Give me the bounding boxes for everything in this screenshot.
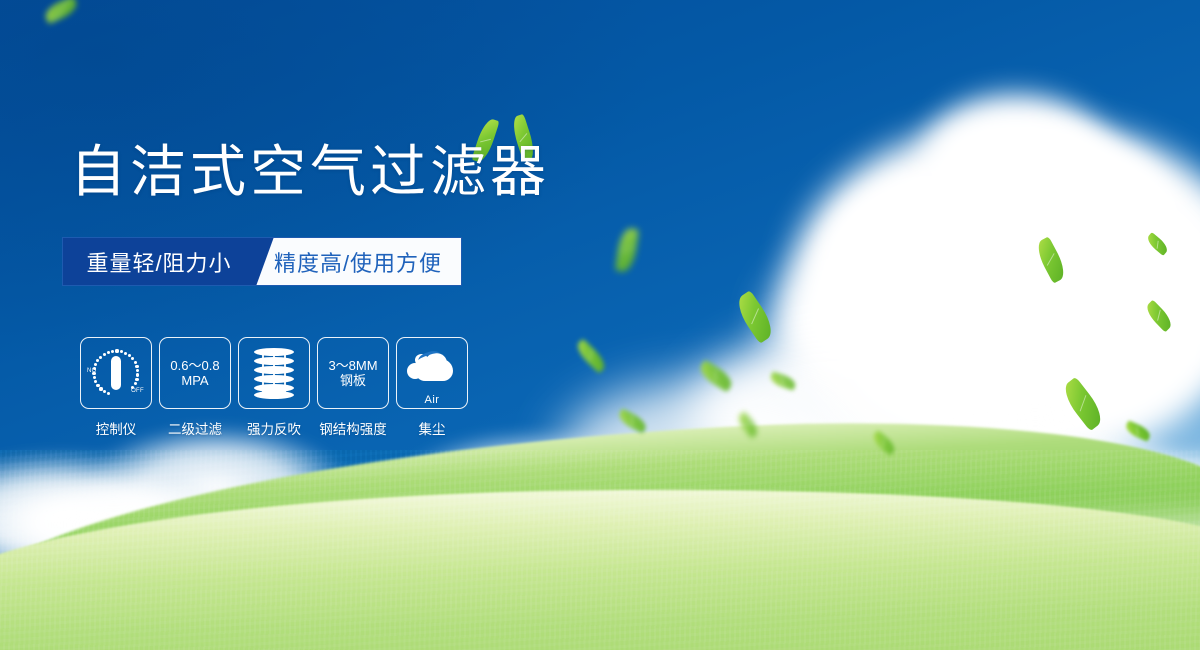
banner-content: 自洁式空气过滤器 重量轻/阻力小 精度高/使用方便 NO OFF 控制仪: [0, 0, 1200, 650]
filter-stack-icon: [250, 347, 298, 399]
gauge-tick-dot: [99, 356, 102, 359]
steel-thickness-text: 3〜8MM: [328, 358, 377, 373]
feature-box-blowback: [238, 337, 310, 409]
air-label: Air: [405, 394, 459, 407]
gauge-tick-dot: [96, 384, 99, 387]
stack-ring-2: [254, 357, 294, 365]
subtitle-right-label: 精度高/使用方便: [274, 246, 442, 278]
gauge-tick-dot: [115, 349, 118, 352]
gauge-tick-dot: [96, 359, 99, 362]
gauge-tick-dot: [99, 387, 102, 390]
feature-label-control-gauge: 控制仪: [96, 418, 137, 438]
gauge-tick-dot: [136, 373, 139, 376]
feature-item-dust[interactable]: Air 集尘: [396, 337, 468, 438]
feature-box-dust: Air: [396, 337, 468, 409]
gauge-tick-dot: [120, 350, 123, 353]
feature-box-steel: 3〜8MM 钢板: [317, 337, 389, 409]
feature-label-pressure: 二级过滤: [168, 418, 222, 438]
gauge-tick-dot: [103, 353, 106, 356]
gauge-tick-dot: [134, 361, 137, 364]
gauge-needle: [111, 356, 121, 390]
gauge-tick-dot: [131, 357, 134, 360]
feature-item-steel[interactable]: 3〜8MM 钢板 钢结构强度: [317, 337, 389, 438]
subtitle-left-segment: 重量轻/阻力小: [63, 238, 255, 285]
feature-box-pressure: 0.6〜0.8 MPA: [159, 337, 231, 409]
gauge-tick-dot: [94, 363, 97, 366]
feature-item-pressure[interactable]: 0.6〜0.8 MPA 二级过滤: [159, 337, 231, 438]
gauge-tick-dot: [111, 350, 114, 353]
subtitle-bar: 重量轻/阻力小 精度高/使用方便: [62, 237, 462, 286]
gauge-tick-dot: [135, 378, 138, 381]
gauge-tick-dot: [107, 351, 110, 354]
gauge-tick-dot: [107, 392, 110, 395]
feature-icon-list: NO OFF 控制仪 0.6〜0.8 MPA 二级过滤: [80, 337, 468, 438]
gauge-dial-icon: NO OFF: [87, 347, 145, 399]
gauge-tick-dot: [94, 380, 97, 383]
pressure-range-text: 0.6〜0.8: [170, 358, 219, 373]
pressure-unit-text: MPA: [181, 373, 208, 388]
gauge-tick-dot: [136, 369, 139, 372]
stack-ring-3: [254, 366, 294, 374]
feature-label-dust: 集尘: [419, 418, 446, 438]
feature-label-steel: 钢结构强度: [319, 418, 387, 438]
subtitle-right-segment: 精度高/使用方便: [255, 238, 461, 285]
feature-item-control-gauge[interactable]: NO OFF 控制仪: [80, 337, 152, 438]
gauge-label-off: OFF: [131, 388, 144, 395]
stack-ring-1: [254, 348, 294, 356]
stack-ring-4: [254, 375, 294, 383]
stack-ring-6: [254, 391, 294, 399]
gauge-tick-dot: [134, 382, 137, 385]
gauge-tick-dot: [124, 352, 127, 355]
gauge-tick-dot: [103, 390, 106, 393]
steel-plate-text: 钢板: [340, 373, 366, 388]
page-title: 自洁式空气过滤器: [70, 144, 550, 200]
feature-label-blowback: 强力反吹: [247, 418, 301, 438]
gauge-tick-dot: [93, 376, 96, 379]
gauge-tick-dot: [135, 365, 138, 368]
gauge-tick-dot: [92, 372, 95, 375]
product-hero-banner: 自洁式空气过滤器 重量轻/阻力小 精度高/使用方便 NO OFF 控制仪: [0, 0, 1200, 650]
feature-item-blowback[interactable]: 强力反吹: [238, 337, 310, 438]
air-cloud-icon: Air: [405, 351, 459, 395]
feature-box-control-gauge: NO OFF: [80, 337, 152, 409]
